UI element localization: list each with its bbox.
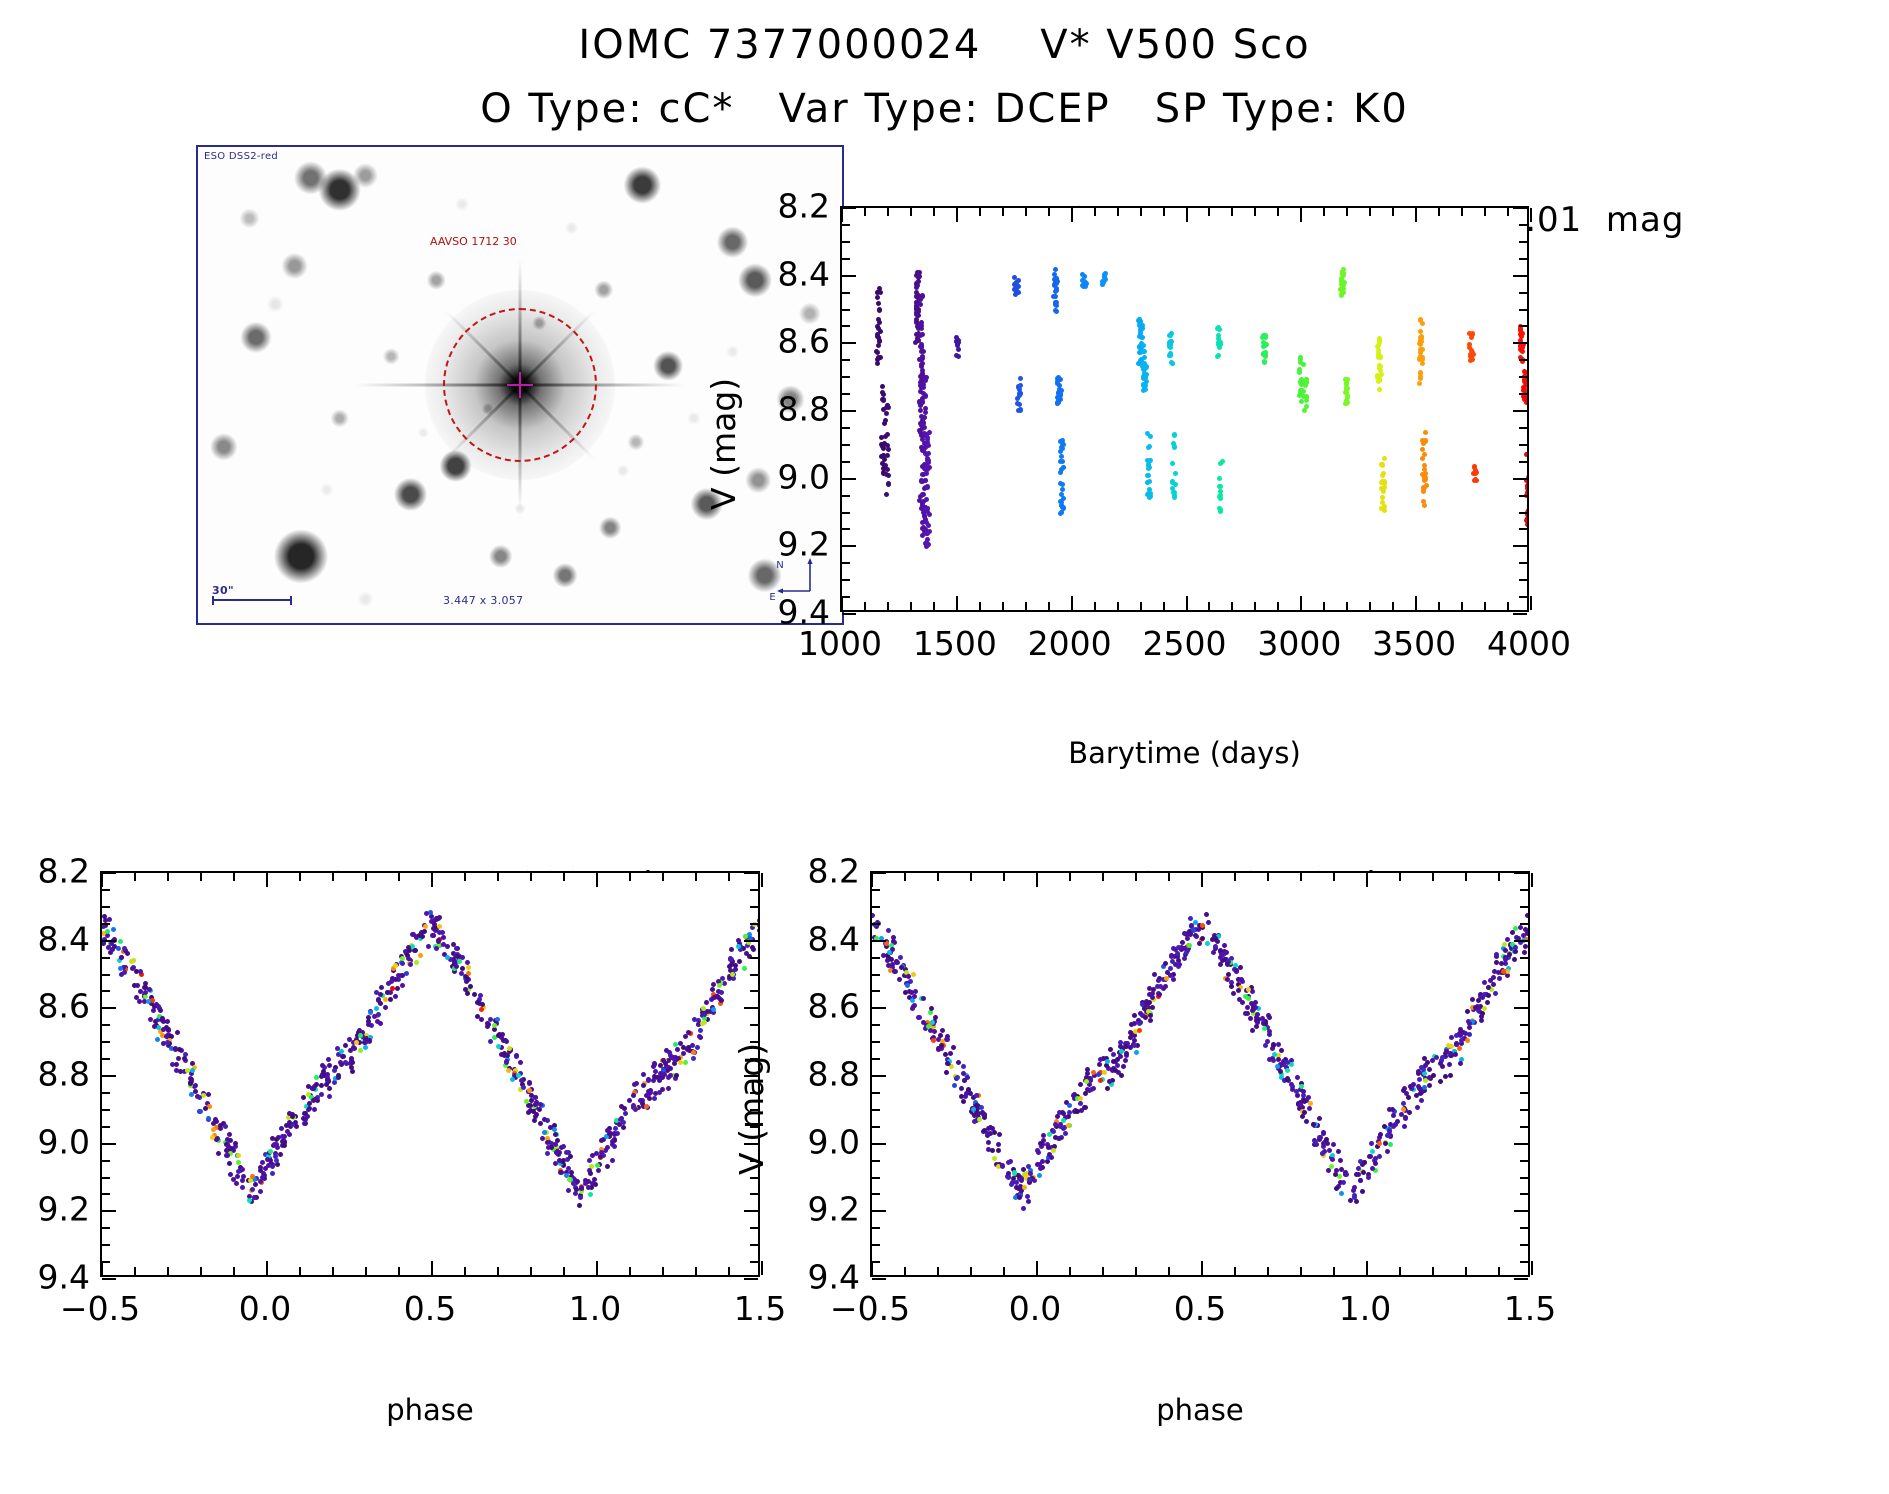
data-point — [1012, 1171, 1017, 1176]
data-point — [1380, 495, 1385, 500]
x-minor-tick — [1135, 1267, 1137, 1275]
y-minor-tick — [102, 974, 110, 976]
data-point — [441, 942, 446, 947]
data-point — [182, 1056, 187, 1061]
data-point — [926, 542, 931, 547]
y-major-tick — [872, 1210, 886, 1212]
y-major-tick — [1513, 342, 1527, 344]
x-major-tick — [1071, 596, 1073, 610]
x-minor-tick — [910, 208, 912, 216]
data-point — [1250, 1028, 1255, 1033]
data-point — [1027, 1177, 1032, 1182]
scale-label: 30" — [212, 584, 234, 597]
y-tick-label: 8.2 — [752, 187, 830, 226]
data-point — [1307, 1106, 1312, 1111]
data-point — [324, 1082, 329, 1087]
y-major-tick — [872, 1143, 886, 1145]
data-point — [393, 963, 398, 968]
x-minor-tick — [1168, 1267, 1170, 1275]
data-point — [1137, 1021, 1142, 1026]
y-minor-tick — [102, 1041, 110, 1043]
y-major-tick — [102, 1075, 116, 1077]
y-minor-tick — [1519, 528, 1527, 530]
data-point — [647, 1091, 652, 1096]
data-point — [956, 354, 961, 359]
data-point — [929, 1006, 934, 1011]
y-minor-tick — [872, 1109, 880, 1111]
x-minor-tick — [1208, 208, 1210, 216]
y-minor-tick — [1519, 579, 1527, 581]
data-point — [1470, 997, 1475, 1002]
y-minor-tick — [102, 1177, 110, 1179]
data-point — [956, 1060, 961, 1065]
y-tick-label: 8.4 — [752, 254, 830, 293]
y-minor-tick — [842, 512, 850, 514]
data-point — [378, 1021, 383, 1026]
x-minor-tick — [332, 873, 334, 881]
data-point — [1261, 333, 1266, 338]
data-point — [1381, 471, 1386, 476]
y-minor-tick — [872, 1024, 880, 1026]
data-point — [652, 1074, 657, 1079]
data-point — [432, 922, 437, 927]
data-point — [1330, 1157, 1335, 1162]
y-minor-tick — [750, 1193, 758, 1195]
x-minor-tick — [1323, 602, 1325, 610]
y-minor-tick — [1520, 957, 1528, 959]
y-minor-tick — [1520, 889, 1528, 891]
data-point — [161, 1027, 166, 1032]
data-point — [407, 948, 412, 953]
data-point — [1285, 1060, 1290, 1065]
data-point — [1236, 988, 1241, 993]
data-point — [698, 1028, 703, 1033]
y-minor-tick — [872, 974, 880, 976]
data-point — [527, 1088, 532, 1093]
data-point — [1054, 303, 1059, 308]
data-point — [1327, 1148, 1332, 1153]
data-point — [338, 1060, 343, 1065]
x-minor-tick — [167, 1267, 169, 1275]
data-point — [1018, 408, 1023, 413]
data-point — [466, 965, 471, 970]
data-point — [385, 990, 390, 995]
data-point — [1123, 1044, 1128, 1049]
data-point — [711, 1007, 716, 1012]
data-point — [686, 1030, 691, 1035]
data-point — [260, 1160, 265, 1165]
data-point — [566, 1188, 571, 1193]
y-minor-tick — [1519, 495, 1527, 497]
data-point — [979, 1105, 984, 1110]
y-minor-tick — [102, 1109, 110, 1111]
data-point — [1362, 1160, 1367, 1165]
data-point — [599, 1150, 604, 1155]
data-point — [223, 1124, 228, 1129]
x-minor-tick — [979, 602, 981, 610]
data-point — [1479, 1014, 1484, 1019]
data-point — [274, 1158, 279, 1163]
y-minor-tick — [842, 309, 850, 311]
data-point — [1229, 984, 1234, 989]
data-point — [1006, 1175, 1011, 1180]
y-minor-tick — [102, 906, 110, 908]
phase-vsx-panel: PVSX = 9.3168630 days phase V (mag) −0.5… — [1000, 825, 1700, 1425]
data-point — [657, 1090, 662, 1095]
data-point — [314, 1075, 319, 1080]
data-point — [883, 434, 888, 439]
x-minor-tick — [563, 1267, 565, 1275]
data-point — [1418, 347, 1423, 352]
data-point — [1138, 319, 1143, 324]
data-point — [1078, 1082, 1083, 1087]
x-minor-tick — [1346, 208, 1348, 216]
x-minor-tick — [1323, 208, 1325, 216]
data-point — [683, 1034, 688, 1039]
data-point — [931, 1038, 936, 1043]
data-point — [702, 1012, 707, 1017]
data-point — [518, 1060, 523, 1065]
data-point — [966, 1087, 971, 1092]
y-major-tick — [1513, 478, 1527, 480]
data-point — [1200, 936, 1205, 941]
phase-omc-axes — [100, 871, 760, 1277]
data-point — [918, 374, 923, 379]
data-point — [1377, 1141, 1382, 1146]
data-point — [1351, 1188, 1356, 1193]
data-point — [1339, 293, 1344, 298]
y-tick-label: 9.0 — [782, 1122, 860, 1161]
data-point — [125, 951, 130, 956]
data-point — [717, 983, 722, 988]
data-point — [1037, 1173, 1042, 1178]
data-point — [1522, 950, 1527, 955]
y-major-tick — [1513, 613, 1527, 615]
data-point — [236, 1153, 241, 1158]
x-minor-tick — [629, 1267, 631, 1275]
y-minor-tick — [102, 1244, 110, 1246]
x-tick-label: 3000 — [1257, 624, 1341, 663]
y-minor-tick — [1520, 974, 1528, 976]
data-point — [1430, 1058, 1435, 1063]
data-point — [1021, 1206, 1026, 1211]
data-point — [641, 1072, 646, 1077]
y-minor-tick — [750, 1244, 758, 1246]
x-minor-tick — [233, 1267, 235, 1275]
data-point — [631, 1103, 636, 1108]
data-point — [992, 1156, 997, 1161]
y-major-tick — [102, 1007, 116, 1009]
data-point — [1420, 361, 1425, 366]
x-minor-tick — [1069, 1267, 1071, 1275]
data-point — [1222, 943, 1227, 948]
y-minor-tick — [1519, 512, 1527, 514]
data-point — [1060, 487, 1065, 492]
data-point — [923, 406, 928, 411]
data-point — [577, 1203, 582, 1208]
x-minor-tick — [1048, 602, 1050, 610]
data-point — [1339, 1191, 1344, 1196]
data-point — [1103, 277, 1108, 282]
data-point — [379, 985, 384, 990]
data-point — [588, 1171, 593, 1176]
x-minor-tick — [1369, 208, 1371, 216]
data-point — [1421, 441, 1426, 446]
y-minor-tick — [842, 579, 850, 581]
y-minor-tick — [842, 325, 850, 327]
data-point — [430, 933, 435, 938]
data-point — [553, 1142, 558, 1147]
data-point — [612, 1132, 617, 1137]
data-point — [1457, 1046, 1462, 1051]
data-point — [1417, 1077, 1422, 1082]
y-minor-tick — [102, 1058, 110, 1060]
data-point — [193, 1089, 198, 1094]
y-minor-tick — [872, 1177, 880, 1179]
data-point — [358, 1048, 363, 1053]
data-point — [258, 1189, 263, 1194]
data-point — [939, 1043, 944, 1048]
data-point — [988, 1131, 993, 1136]
y-minor-tick — [750, 889, 758, 891]
y-major-tick — [1514, 1278, 1528, 1280]
data-point — [920, 399, 925, 404]
data-point — [1148, 1018, 1153, 1023]
data-point — [1380, 500, 1385, 505]
data-point — [305, 1114, 310, 1119]
y-minor-tick — [1519, 241, 1527, 243]
data-point — [1187, 943, 1192, 948]
data-point — [1299, 399, 1304, 404]
x-minor-tick — [530, 873, 532, 881]
data-point — [730, 972, 735, 977]
data-point — [1443, 1074, 1448, 1079]
data-point — [1393, 1122, 1398, 1127]
x-minor-tick — [887, 602, 889, 610]
data-point — [1503, 948, 1508, 953]
data-point — [961, 1099, 966, 1104]
y-minor-tick — [872, 889, 880, 891]
data-point — [190, 1068, 195, 1073]
y-minor-tick — [842, 224, 850, 226]
x-minor-tick — [1102, 1267, 1104, 1275]
data-point — [1482, 1006, 1487, 1011]
y-major-tick — [872, 1007, 886, 1009]
data-point — [996, 1142, 1001, 1147]
x-minor-tick — [1094, 602, 1096, 610]
data-point — [339, 1049, 344, 1054]
data-point — [1358, 1178, 1363, 1183]
data-point — [1366, 1175, 1371, 1180]
data-point — [729, 957, 734, 962]
data-point — [886, 928, 891, 933]
data-point — [468, 984, 473, 989]
data-point — [886, 473, 891, 478]
data-point — [925, 537, 930, 542]
data-point — [173, 1047, 178, 1052]
data-point — [1140, 1002, 1145, 1007]
data-point — [434, 946, 439, 951]
data-point — [343, 1043, 348, 1048]
data-point — [704, 1000, 709, 1005]
data-point — [1270, 1056, 1275, 1061]
data-point — [459, 971, 464, 976]
lightcurve-panel: Vmed = 8.75 mag <err_V> = 0.01 mag Baryt… — [1000, 160, 1889, 700]
data-point — [1336, 1149, 1341, 1154]
x-minor-tick — [332, 1267, 334, 1275]
data-point — [605, 1164, 610, 1169]
x-tick-label: 0.0 — [1009, 1289, 1061, 1328]
data-point — [216, 1151, 221, 1156]
x-minor-tick — [1267, 1267, 1269, 1275]
phase-vsx-xaxis-label: phase — [870, 1393, 1530, 1427]
x-minor-tick — [1234, 1267, 1236, 1275]
data-point — [1453, 1052, 1458, 1057]
data-point — [894, 960, 899, 965]
data-point — [646, 1078, 651, 1083]
data-point — [1262, 360, 1267, 365]
y-minor-tick — [842, 461, 850, 463]
data-point — [119, 955, 124, 960]
x-minor-tick — [1208, 602, 1210, 610]
data-point — [911, 972, 916, 977]
phase-vsx-yaxis-label: V (mag) — [732, 1043, 771, 1175]
data-point — [627, 1098, 632, 1103]
y-minor-tick — [1520, 990, 1528, 992]
data-point — [1205, 941, 1210, 946]
y-minor-tick — [872, 1244, 880, 1246]
y-major-tick — [1514, 940, 1528, 942]
data-point — [1382, 456, 1387, 461]
data-point — [118, 939, 123, 944]
data-point — [1049, 1155, 1054, 1160]
data-point — [1438, 1061, 1443, 1066]
data-point — [923, 394, 928, 399]
data-point — [327, 1063, 332, 1068]
data-point — [110, 947, 115, 952]
x-minor-tick — [1461, 602, 1463, 610]
data-point — [1431, 1073, 1436, 1078]
data-point — [921, 382, 926, 387]
data-point — [135, 983, 140, 988]
y-minor-tick — [750, 990, 758, 992]
x-minor-tick — [1465, 1267, 1467, 1275]
y-minor-tick — [1519, 325, 1527, 327]
x-minor-tick — [1465, 873, 1467, 881]
y-minor-tick — [872, 906, 880, 908]
y-minor-tick — [750, 1177, 758, 1179]
data-point — [1523, 944, 1528, 949]
y-minor-tick — [750, 1261, 758, 1263]
data-point — [938, 1033, 943, 1038]
data-point — [1115, 1063, 1120, 1068]
data-point — [956, 347, 961, 352]
data-point — [478, 993, 483, 998]
x-tick-label: 3500 — [1372, 624, 1456, 663]
x-minor-tick — [1346, 602, 1348, 610]
x-minor-tick — [662, 873, 664, 881]
phase-omc-yaxis-label: V (mag) — [0, 1043, 1, 1175]
x-minor-tick — [910, 602, 912, 610]
data-point — [393, 994, 398, 999]
data-point — [1118, 1054, 1123, 1059]
y-major-tick — [102, 1143, 116, 1145]
data-point — [1329, 1164, 1334, 1169]
data-point — [1271, 1042, 1276, 1047]
data-point — [414, 960, 419, 965]
data-point — [528, 1108, 533, 1113]
y-minor-tick — [750, 923, 758, 925]
data-point — [1499, 961, 1504, 966]
x-tick-label: 1.5 — [734, 1289, 786, 1328]
x-major-tick — [1201, 1261, 1203, 1275]
data-point — [1525, 516, 1527, 521]
data-point — [176, 1056, 181, 1061]
data-point — [554, 1150, 559, 1155]
y-minor-tick — [1520, 1193, 1528, 1195]
data-point — [927, 529, 932, 534]
data-point — [1053, 308, 1058, 313]
data-point — [1036, 1150, 1041, 1155]
data-point — [1276, 1042, 1281, 1047]
data-point — [532, 1118, 537, 1123]
data-point — [188, 1081, 193, 1086]
data-point — [510, 1077, 515, 1082]
data-point — [436, 938, 441, 943]
x-minor-tick — [134, 1267, 136, 1275]
data-point — [1512, 957, 1517, 962]
y-major-tick — [872, 1075, 886, 1077]
data-point — [549, 1145, 554, 1150]
data-point — [925, 506, 930, 511]
data-point — [1231, 991, 1236, 996]
data-point — [924, 375, 929, 380]
y-major-tick — [842, 410, 856, 412]
data-point — [1019, 1178, 1024, 1183]
data-point — [925, 485, 930, 490]
data-point — [1467, 331, 1472, 336]
survey-label: ESO DSS2-red — [204, 151, 278, 162]
x-minor-tick — [1163, 602, 1165, 610]
lightcurve-xaxis-label: Barytime (days) — [840, 736, 1529, 770]
data-point — [454, 946, 459, 951]
data-point — [252, 1195, 257, 1200]
data-point — [883, 418, 888, 423]
y-minor-tick — [102, 1227, 110, 1229]
data-point — [674, 1073, 679, 1078]
data-point — [426, 944, 431, 949]
data-point — [1383, 1141, 1388, 1146]
data-point — [1097, 1062, 1102, 1067]
data-point — [1378, 1132, 1383, 1137]
y-minor-tick — [1520, 1126, 1528, 1128]
x-tick-label: 0.5 — [1174, 1289, 1226, 1328]
data-point — [1485, 1000, 1490, 1005]
y-major-tick — [744, 872, 758, 874]
data-point — [722, 981, 727, 986]
y-minor-tick — [1520, 1041, 1528, 1043]
data-point — [138, 969, 143, 974]
x-minor-tick — [299, 1267, 301, 1275]
data-point — [605, 1145, 610, 1150]
data-point — [666, 1086, 671, 1091]
data-point — [155, 1037, 160, 1042]
data-point — [197, 1095, 202, 1100]
data-point — [102, 931, 106, 936]
data-point — [1454, 1042, 1459, 1047]
y-minor-tick — [1519, 393, 1527, 395]
data-point — [312, 1107, 317, 1112]
